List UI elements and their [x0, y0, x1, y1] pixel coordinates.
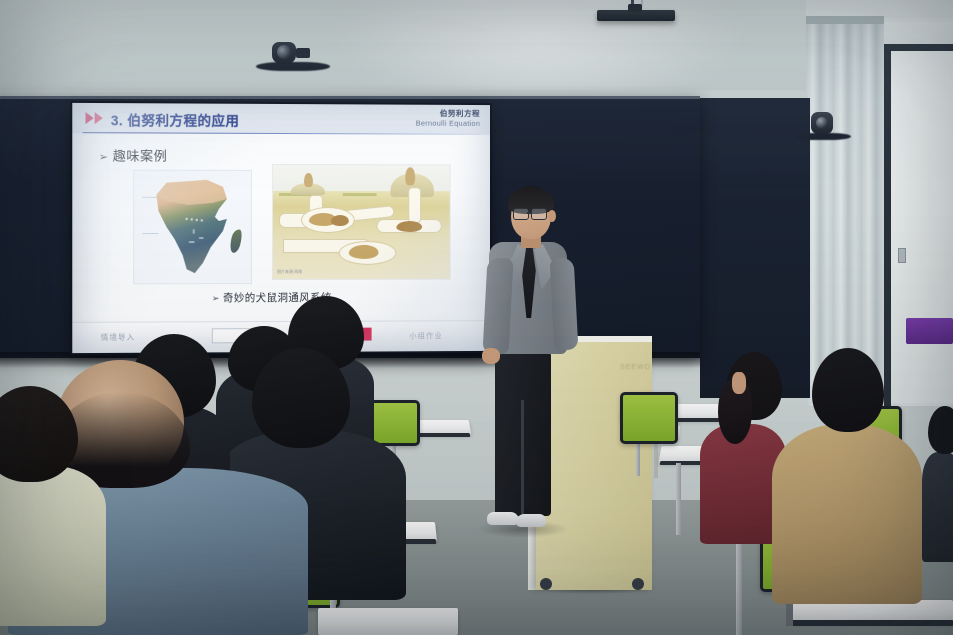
desk-edge-foreground-right [792, 620, 953, 626]
prairie-dog-in-chamber-3 [349, 245, 379, 259]
prairie-dog-in-chamber-2 [331, 215, 349, 226]
slide-title-number: 3. [111, 113, 123, 128]
eyeglasses-lens-left-icon [513, 208, 529, 220]
slide-title: 3. 伯努利方程的应用 [111, 109, 240, 130]
presenter-shoe-left [487, 512, 519, 525]
footer-item-0[interactable]: 情境导入 [101, 332, 135, 343]
presenter-ear [548, 210, 556, 222]
caption-arrow-icon: ➢ [212, 293, 220, 303]
board-top-highlight [0, 96, 700, 99]
diagram-micro-caption: 图片来源:网络 [277, 269, 302, 275]
eyeglasses-lens-right-icon [531, 208, 547, 220]
africa-map-figure [133, 170, 252, 285]
door-frame-vertical [884, 44, 891, 406]
africa-continent-shape [148, 177, 241, 278]
door-frame-header [884, 44, 953, 51]
curtain-rail [806, 16, 884, 24]
presenter-arm-left [483, 257, 514, 354]
chair-back-center-1[interactable] [368, 400, 420, 446]
slide-header-rule [82, 132, 480, 135]
desk-foreground-center [318, 608, 458, 635]
ceiling-camera-mount [256, 62, 330, 71]
bullet-arrow-icon: ➢ [99, 151, 109, 163]
slide-title-text: 伯努利方程的应用 [127, 113, 239, 129]
diagram-ground [273, 191, 450, 279]
footer-item-3[interactable]: 小组作业 [409, 330, 443, 341]
projection-screen[interactable]: 3. 伯努利方程的应用 伯努利方程 Bernoulli Equation ➢趣味… [72, 103, 490, 353]
purple-object [906, 318, 953, 344]
slide-bullet: ➢趣味案例 [99, 145, 168, 164]
slide-header-english: Bernoulli Equation [416, 119, 480, 128]
slide-header-chinese: 伯努利方程 [440, 108, 480, 119]
prairie-dog-standing-right [405, 167, 415, 185]
podium-brand-logo: SEEWO [620, 364, 651, 371]
podium-caster-right [632, 578, 644, 590]
prairie-dog-standing-left [304, 173, 313, 187]
eyeglasses-bridge-icon [527, 212, 532, 214]
door-handle[interactable] [898, 248, 906, 263]
ceiling-camera-arm [296, 48, 310, 58]
wall-camera-plate [795, 133, 851, 140]
desk-leg-c [676, 463, 681, 535]
wall-camera-lens [816, 117, 828, 129]
bullet-label: 趣味案例 [113, 148, 168, 163]
podium-front-panel [536, 340, 652, 590]
chair-back-right-1[interactable] [620, 392, 678, 444]
presenter-arm-right [550, 257, 579, 350]
podium-caster-left [540, 578, 552, 590]
ceiling-camera-lens [277, 45, 291, 59]
desk-leg-e [736, 536, 742, 635]
presenter-hand [482, 348, 500, 364]
double-chevron-icon [84, 111, 106, 125]
burrow-diagram-figure: 图片来源:网络 [272, 164, 451, 280]
glass-door[interactable] [891, 51, 953, 403]
light-bar-mount [628, 4, 642, 12]
classroom-photo-scene: 3. 伯努利方程的应用 伯努利方程 Bernoulli Equation ➢趣味… [0, 0, 953, 635]
prairie-dog-in-tunnel [396, 221, 422, 232]
presenter-leg-seam [521, 400, 524, 518]
podium-monitor-stem [654, 442, 658, 478]
presenter-shoe-right [516, 514, 546, 527]
